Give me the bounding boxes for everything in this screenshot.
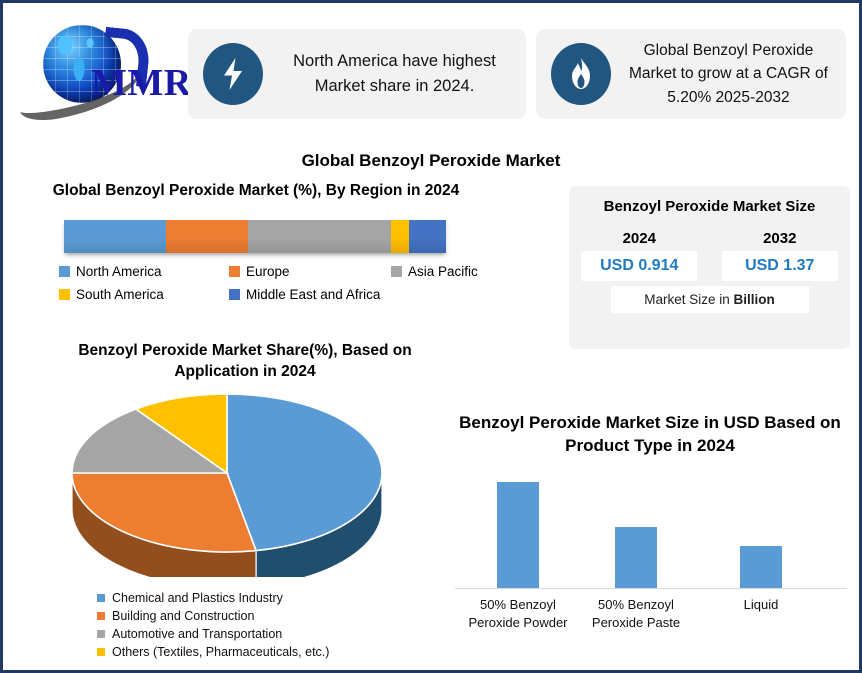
application-legend-item: Building and Construction bbox=[55, 607, 329, 625]
application-legend-item: Automotive and Transportation bbox=[55, 625, 329, 643]
region-segment-1 bbox=[166, 220, 248, 253]
region-legend-label: South America bbox=[76, 287, 164, 302]
legend-swatch-icon bbox=[229, 289, 240, 300]
header-card-north-america: North America have highest Market share … bbox=[188, 29, 526, 119]
application-pie-legend: Chemical and Plastics IndustryBuilding a… bbox=[55, 589, 329, 662]
region-stacked-bar bbox=[64, 220, 446, 253]
market-size-values: USD 0.914 USD 1.37 bbox=[569, 251, 850, 281]
application-legend-label: Chemical and Plastics Industry bbox=[112, 589, 283, 607]
application-legend-item: Chemical and Plastics Industry bbox=[55, 589, 329, 607]
market-size-year-base: 2024 bbox=[575, 230, 703, 247]
legend-swatch-icon bbox=[391, 266, 402, 277]
header-card-cagr: Global Benzoyl Peroxide Market to grow a… bbox=[536, 29, 846, 119]
product-type-chart-title: Benzoyl Peroxide Market Size in USD Base… bbox=[455, 411, 845, 457]
region-legend-item: Middle East and Africa bbox=[229, 285, 459, 305]
application-legend-label: Building and Construction bbox=[112, 607, 254, 625]
region-legend-label: North America bbox=[76, 264, 162, 279]
application-pie-chart: Benzoyl Peroxide Market Share(%), Based … bbox=[45, 341, 465, 577]
product-bar-1 bbox=[615, 527, 657, 588]
region-segment-0 bbox=[64, 220, 166, 253]
market-size-unit-prefix: Market Size in bbox=[644, 292, 733, 307]
application-pie-title: Benzoyl Peroxide Market Share(%), Based … bbox=[45, 341, 445, 383]
market-size-unit-value: Billion bbox=[734, 292, 775, 307]
product-bar-2 bbox=[740, 546, 782, 588]
header-card-text: North America have highest Market share … bbox=[263, 49, 526, 99]
logo-text: MMR bbox=[91, 61, 192, 105]
application-legend-item: Others (Textiles, Pharmaceuticals, etc.) bbox=[55, 643, 329, 661]
market-size-value-base: USD 0.914 bbox=[581, 251, 697, 281]
market-size-year-forecast: 2032 bbox=[716, 230, 844, 247]
legend-swatch-icon bbox=[229, 266, 240, 277]
region-legend-item: Asia Pacific bbox=[391, 262, 489, 282]
region-legend-label: Middle East and Africa bbox=[246, 287, 380, 302]
product-type-plot-area bbox=[455, 469, 847, 589]
infographic-frame: MMR North America have highest Market sh… bbox=[0, 0, 862, 673]
product-type-axis-line bbox=[455, 588, 847, 589]
page-title: Global Benzoyl Peroxide Market bbox=[3, 151, 859, 171]
region-chart-legend: North AmericaEuropeAsia PacificSouth Ame… bbox=[59, 262, 489, 308]
flame-icon bbox=[551, 43, 611, 105]
application-pie-canvas bbox=[45, 387, 445, 577]
region-chart: Global Benzoyl Peroxide Market (%), By R… bbox=[45, 181, 505, 308]
market-size-years: 2024 2032 bbox=[569, 230, 850, 247]
market-size-panel: Benzoyl Peroxide Market Size 2024 2032 U… bbox=[569, 186, 850, 349]
market-size-value-forecast: USD 1.37 bbox=[722, 251, 838, 281]
mmr-logo: MMR bbox=[17, 21, 187, 109]
product-type-chart: Benzoyl Peroxide Market Size in USD Base… bbox=[455, 411, 855, 636]
product-type-category-labels: 50% Benzoyl Peroxide Powder50% Benzoyl P… bbox=[455, 596, 847, 636]
market-size-unit-note: Market Size in Billion bbox=[611, 286, 809, 313]
region-segment-3 bbox=[391, 220, 409, 253]
application-legend-label: Others (Textiles, Pharmaceuticals, etc.) bbox=[112, 643, 329, 661]
legend-swatch-icon bbox=[59, 289, 70, 300]
product-category-label: Liquid bbox=[701, 596, 821, 614]
region-segment-4 bbox=[409, 220, 446, 253]
legend-swatch-icon bbox=[97, 648, 105, 656]
region-segment-2 bbox=[248, 220, 391, 253]
product-category-label: 50% Benzoyl Peroxide Paste bbox=[576, 596, 696, 631]
header: MMR North America have highest Market sh… bbox=[3, 3, 859, 143]
lightning-bolt-icon bbox=[203, 43, 263, 105]
product-bar-0 bbox=[497, 482, 539, 588]
legend-swatch-icon bbox=[97, 612, 105, 620]
region-legend-item: Europe bbox=[229, 262, 391, 282]
market-size-title: Benzoyl Peroxide Market Size bbox=[569, 186, 850, 217]
product-category-label: 50% Benzoyl Peroxide Powder bbox=[458, 596, 578, 631]
region-legend-item: North America bbox=[59, 262, 229, 282]
region-legend-label: Asia Pacific bbox=[408, 264, 478, 279]
legend-swatch-icon bbox=[97, 594, 105, 602]
region-legend-item: South America bbox=[59, 285, 229, 305]
region-legend-label: Europe bbox=[246, 264, 290, 279]
application-legend-label: Automotive and Transportation bbox=[112, 625, 282, 643]
legend-swatch-icon bbox=[97, 630, 105, 638]
header-card-text: Global Benzoyl Peroxide Market to grow a… bbox=[611, 39, 846, 109]
legend-swatch-icon bbox=[59, 266, 70, 277]
region-chart-title: Global Benzoyl Peroxide Market (%), By R… bbox=[45, 181, 467, 202]
